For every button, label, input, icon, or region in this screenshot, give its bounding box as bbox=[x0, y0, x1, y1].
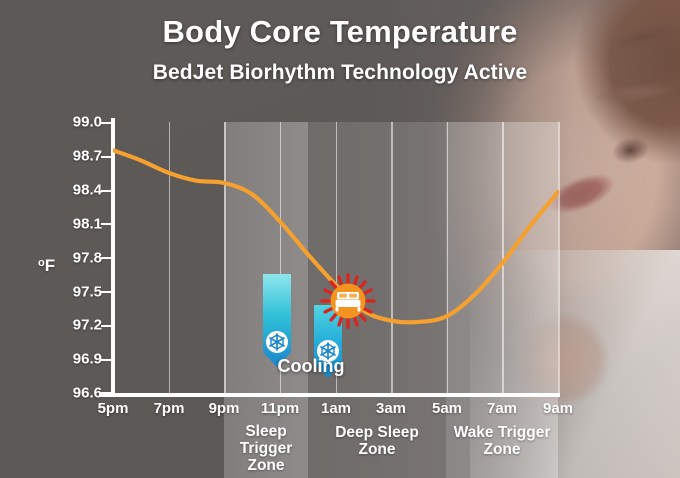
zone-label-wake-trigger: Wake Trigger Zone bbox=[454, 424, 551, 458]
chart-plot-area bbox=[113, 122, 558, 393]
cooling-marker-tall[interactable] bbox=[261, 274, 293, 368]
y-tick-label: 97.2 bbox=[73, 317, 102, 334]
gridline bbox=[169, 122, 171, 393]
sleep-sun-marker[interactable] bbox=[320, 273, 376, 329]
x-tick-label: 5am bbox=[432, 400, 462, 417]
y-tick-label: 98.1 bbox=[73, 216, 102, 233]
zone-label-sleep-trigger: Sleep Trigger Zone bbox=[240, 423, 293, 474]
x-tick-label: 9am bbox=[543, 400, 573, 417]
gridline bbox=[224, 122, 226, 393]
y-tick-label: 97.5 bbox=[73, 284, 102, 301]
gridline bbox=[558, 122, 560, 393]
y-axis-title: oF bbox=[38, 256, 55, 276]
x-tick-label: 7pm bbox=[154, 400, 185, 417]
x-axis-line bbox=[99, 393, 560, 397]
x-tick-label: 1am bbox=[321, 400, 351, 417]
x-tick-label: 9pm bbox=[209, 400, 240, 417]
x-tick-label: 5pm bbox=[98, 400, 129, 417]
page-title: Body Core Temperature bbox=[0, 14, 680, 50]
y-tick-label: 96.9 bbox=[73, 351, 102, 368]
y-axis-unit: F bbox=[45, 256, 55, 275]
y-tick-label: 98.4 bbox=[73, 182, 102, 199]
gridline bbox=[447, 122, 449, 393]
y-tick-label: 97.8 bbox=[73, 250, 102, 267]
y-tick-label: 99.0 bbox=[73, 114, 102, 131]
x-tick-label: 11pm bbox=[261, 400, 299, 417]
sun-bed-icon bbox=[320, 273, 376, 329]
infographic-root: Body Core Temperature BedJet Biorhythm T… bbox=[0, 0, 680, 478]
page-subtitle: BedJet Biorhythm Technology Active bbox=[0, 61, 680, 85]
y-tick-label: 96.6 bbox=[73, 385, 102, 402]
x-tick-label: 7am bbox=[487, 400, 517, 417]
cooling-label: Cooling bbox=[278, 356, 345, 377]
gridline bbox=[391, 122, 393, 393]
zone-label-deep-sleep: Deep Sleep Zone bbox=[335, 424, 419, 458]
y-axis-line bbox=[111, 118, 115, 397]
degree-symbol: o bbox=[38, 257, 45, 269]
x-tick-label: 3am bbox=[376, 400, 406, 417]
y-tick-label: 98.7 bbox=[73, 148, 102, 165]
gridline bbox=[502, 122, 504, 393]
snowflake-pin-icon bbox=[261, 274, 293, 368]
